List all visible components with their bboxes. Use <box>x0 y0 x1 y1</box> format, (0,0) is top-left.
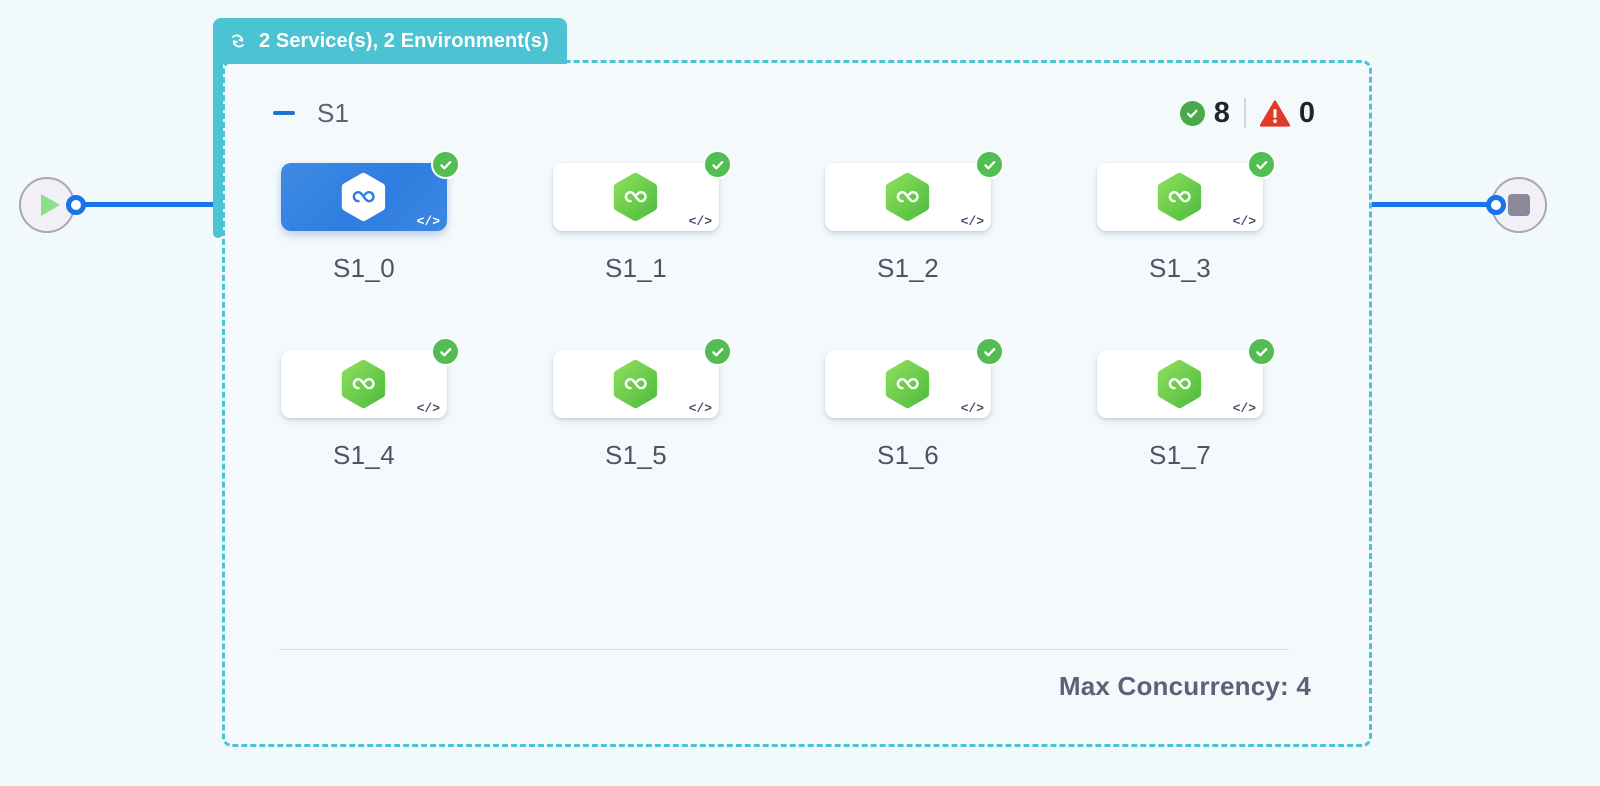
warning-triangle-icon <box>1260 100 1290 127</box>
code-icon[interactable]: </> <box>689 215 712 228</box>
service-node-label: S1_6 <box>825 440 991 471</box>
service-node-label: S1_5 <box>553 440 719 471</box>
status-cluster: 8 0 <box>1180 98 1315 128</box>
hexagon-loop-icon <box>613 359 659 409</box>
status-warning: 0 <box>1260 99 1315 128</box>
check-circle-icon <box>1247 150 1276 179</box>
hexagon-loop-icon <box>885 172 931 222</box>
status-ok: 8 <box>1180 99 1230 128</box>
code-icon[interactable]: </> <box>961 215 984 228</box>
group-tab-label: 2 Service(s), 2 Environment(s) <box>259 30 549 53</box>
check-circle-icon <box>1247 337 1276 366</box>
hexagon-loop-icon <box>885 359 931 409</box>
workflow-canvas: 2 Service(s), 2 Environment(s) S1 8 <box>0 0 1600 786</box>
code-icon[interactable]: </> <box>961 402 984 415</box>
collapse-group-button[interactable] <box>271 100 297 126</box>
group-tab-stem <box>213 60 223 238</box>
check-circle-icon <box>431 337 460 366</box>
service-node: </> S1_0 <box>281 163 447 284</box>
edge-start-to-group <box>78 202 228 207</box>
service-node: </> S1_4 <box>281 350 447 471</box>
start-node-port[interactable] <box>66 195 86 215</box>
minus-icon <box>273 111 295 115</box>
group-title: S1 <box>317 98 349 129</box>
hexagon-loop-icon <box>1157 172 1203 222</box>
code-icon[interactable]: </> <box>1233 402 1256 415</box>
service-node-card[interactable]: </> <box>281 163 447 231</box>
max-concurrency-label: Max Concurrency: 4 <box>1059 671 1311 702</box>
loop-icon <box>227 30 249 52</box>
service-node-card[interactable]: </> <box>1097 163 1263 231</box>
service-node-card[interactable]: </> <box>553 350 719 418</box>
check-circle-icon <box>975 150 1004 179</box>
hexagon-loop-icon <box>341 172 387 222</box>
service-node: </> S1_1 <box>553 163 719 284</box>
check-circle-icon <box>1180 101 1205 126</box>
group-header: S1 8 0 <box>225 91 1369 135</box>
service-node: </> S1_7 <box>1097 350 1263 471</box>
footer-divider <box>279 649 1289 650</box>
code-icon[interactable]: </> <box>417 402 440 415</box>
service-node-label: S1_4 <box>281 440 447 471</box>
service-node-label: S1_7 <box>1097 440 1263 471</box>
service-node-card[interactable]: </> <box>281 350 447 418</box>
service-node-label: S1_0 <box>281 253 447 284</box>
code-icon[interactable]: </> <box>689 402 712 415</box>
code-icon[interactable]: </> <box>417 215 440 228</box>
check-circle-icon <box>975 337 1004 366</box>
service-node: </> S1_6 <box>825 350 991 471</box>
code-icon[interactable]: </> <box>1233 215 1256 228</box>
service-node: </> S1_5 <box>553 350 719 471</box>
service-node: </> S1_3 <box>1097 163 1263 284</box>
service-group-container: S1 8 0 <box>222 60 1372 747</box>
service-node-label: S1_2 <box>825 253 991 284</box>
service-node-card[interactable]: </> <box>1097 350 1263 418</box>
check-circle-icon <box>703 337 732 366</box>
play-icon <box>41 194 60 216</box>
service-node-card[interactable]: </> <box>825 350 991 418</box>
service-node: </> S1_2 <box>825 163 991 284</box>
service-node-label: S1_1 <box>553 253 719 284</box>
service-node-card[interactable]: </> <box>553 163 719 231</box>
warning-count: 0 <box>1299 99 1315 128</box>
hexagon-loop-icon <box>1157 359 1203 409</box>
hexagon-loop-icon <box>613 172 659 222</box>
stop-icon <box>1508 194 1530 216</box>
service-node-grid: </> S1_0 </> S1_1 </> S1_2 <box>281 163 1291 471</box>
check-circle-icon <box>431 150 460 179</box>
edge-group-to-end <box>1352 202 1500 207</box>
group-tab[interactable]: 2 Service(s), 2 Environment(s) <box>213 18 567 64</box>
end-node-port[interactable] <box>1486 195 1506 215</box>
service-node-label: S1_3 <box>1097 253 1263 284</box>
check-circle-icon <box>703 150 732 179</box>
ok-count: 8 <box>1214 99 1230 128</box>
status-divider <box>1244 98 1246 128</box>
hexagon-loop-icon <box>341 359 387 409</box>
service-node-card[interactable]: </> <box>825 163 991 231</box>
